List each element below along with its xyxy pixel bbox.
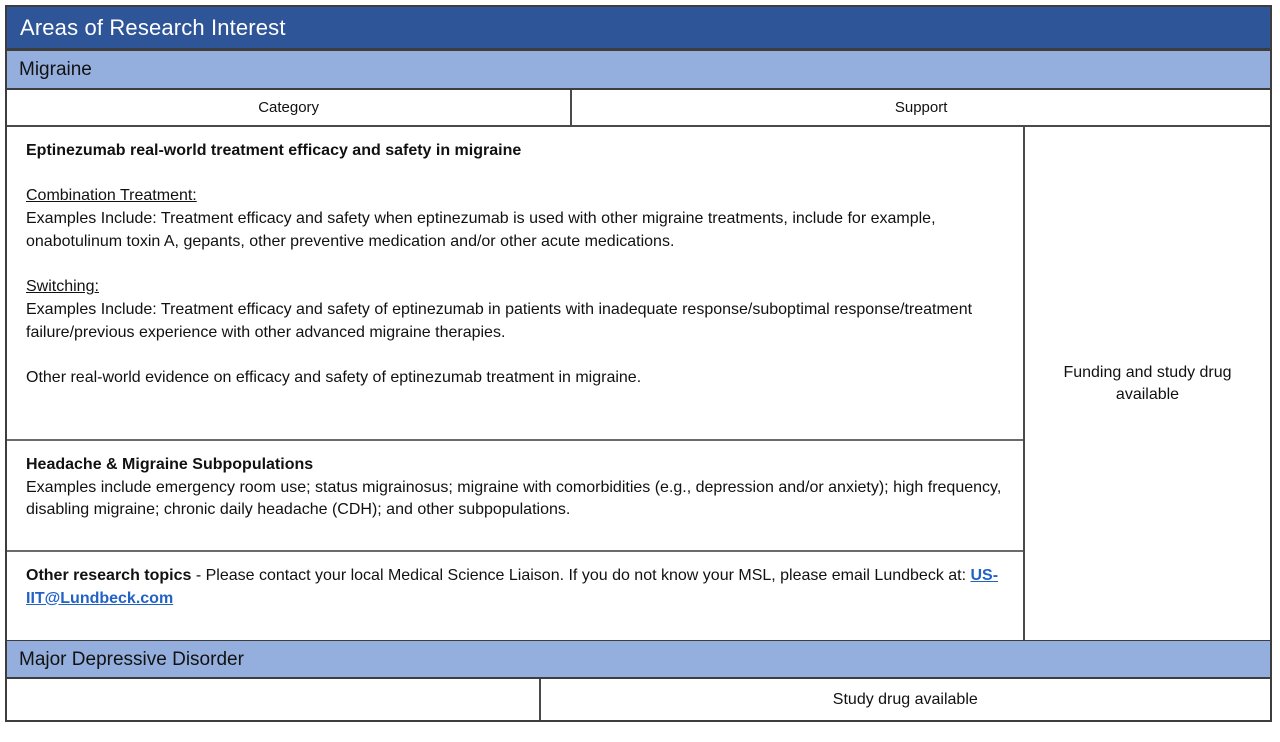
row-text: - Please contact your local Medical Scie… [191, 567, 970, 584]
row-heading-inline: Other research topics [26, 567, 191, 584]
column-header-support-label: Support [895, 99, 948, 116]
section-header-migraine: Migraine [7, 50, 1270, 90]
section-header-label: Migraine [7, 60, 92, 79]
table-row-eptinezumab: Eptinezumab real-world treatment efficac… [7, 127, 1023, 441]
category-column: Eptinezumab real-world treatment efficac… [7, 127, 1025, 640]
support-cell-migraine: Funding and study drug available [1025, 127, 1270, 640]
block-text-other-real-world-evidence: Other real-world evidence on efficacy an… [26, 367, 1005, 390]
column-header-category-label: Category [258, 99, 319, 116]
table-row-subpopulations: Headache & Migraine Subpopulations Examp… [7, 441, 1023, 552]
row-text: Examples include emergency room use; sta… [26, 477, 1005, 522]
blank-line [26, 163, 1005, 186]
support-value: Funding and study drug available [1043, 362, 1252, 405]
support-cell-major-depressive-disorder: Study drug available [539, 679, 1270, 720]
column-header-category: Category [7, 90, 570, 125]
table-row-other-research-topics: Other research topics - Please contact y… [7, 552, 1023, 638]
blank-line [26, 254, 1005, 277]
block-label-combination-treatment: Combination Treatment: [26, 185, 1005, 208]
blank-line [26, 344, 1005, 367]
block-text-combination-treatment: Examples Include: Treatment efficacy and… [26, 208, 1005, 253]
page-title: Areas of Research Interest [7, 17, 286, 39]
row-heading: Eptinezumab real-world treatment efficac… [26, 140, 1005, 163]
column-header-support: Support [570, 90, 1270, 125]
research-interest-table: Areas of Research Interest Migraine Cate… [5, 5, 1272, 722]
document-title-band: Areas of Research Interest [7, 7, 1270, 50]
row-heading: Headache & Migraine Subpopulations [26, 454, 1005, 477]
block-label-switching: Switching: [26, 276, 1005, 299]
column-header-row: Category Support [7, 90, 1270, 127]
document-page: Areas of Research Interest Migraine Cate… [0, 0, 1280, 742]
section-header-label: Major Depressive Disorder [7, 650, 244, 669]
block-text-switching: Examples Include: Treatment efficacy and… [26, 299, 1005, 344]
section-header-major-depressive-disorder: Major Depressive Disorder [7, 640, 1270, 679]
support-value: Study drug available [833, 691, 978, 709]
category-cell-major-depressive-disorder [7, 679, 539, 720]
table-row-major-depressive-disorder: Study drug available [7, 679, 1270, 720]
